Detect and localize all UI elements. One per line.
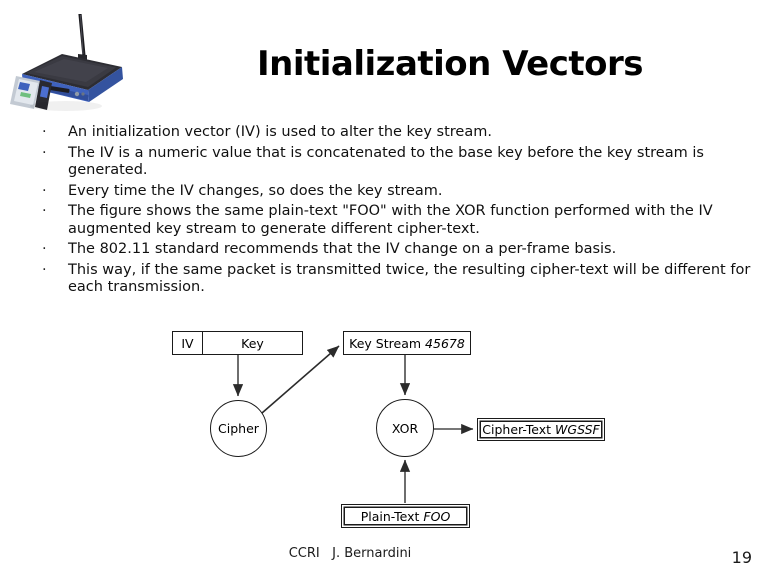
plain-text-value: FOO (419, 509, 450, 524)
list-item-text: The 802.11 standard recommends that the … (68, 241, 764, 259)
plain-text-box: Plain-Text FOO (341, 504, 470, 528)
key-cell-label: Key (203, 336, 302, 351)
key-stream-label: Key Stream (349, 336, 421, 351)
bullet-dot-icon: · (42, 262, 47, 280)
list-item: · This way, if the same packet is transm… (34, 262, 764, 297)
xor-node: XOR (376, 399, 434, 457)
bullet-dot-icon: · (42, 124, 47, 142)
iv-cell-label: IV (173, 332, 203, 354)
list-item: · An initialization vector (IV) is used … (34, 124, 764, 142)
list-item-text: The figure shows the same plain-text "FO… (68, 203, 764, 238)
cipher-node: Cipher (210, 400, 267, 457)
cipher-flow-diagram: IV Key Key Stream 45678 Cipher XOR Ciphe… (0, 318, 780, 543)
cipher-text-box: Cipher-Text WGSSF (477, 418, 605, 441)
bullet-dot-icon: · (42, 183, 47, 201)
plain-text-label: Plain-Text (361, 509, 420, 524)
wireless-router-icon (4, 14, 134, 116)
list-item: · The 802.11 standard recommends that th… (34, 241, 764, 259)
iv-key-box: IV Key (172, 331, 303, 355)
list-item: · The figure shows the same plain-text "… (34, 203, 764, 238)
xor-label: XOR (392, 421, 418, 436)
page-number: 19 (732, 548, 752, 567)
list-item-text: An initialization vector (IV) is used to… (68, 124, 764, 142)
list-item: · The IV is a numeric value that is conc… (34, 145, 764, 180)
cipher-text-label: Cipher-Text (482, 422, 551, 437)
bullet-dot-icon: · (42, 241, 47, 259)
cipher-label: Cipher (218, 421, 259, 436)
footer-credit: CCRI J. Bernardini (0, 546, 700, 561)
list-item-text: The IV is a numeric value that is concat… (68, 145, 764, 180)
cipher-text-value: WGSSF (551, 422, 600, 437)
router-svg (4, 14, 134, 116)
bullet-dot-icon: · (42, 145, 47, 163)
slide-canvas: Initialization Vectors · An initializati… (0, 0, 780, 585)
key-stream-box: Key Stream 45678 (343, 331, 471, 355)
bullet-dot-icon: · (42, 203, 47, 221)
list-item: · Every time the IV changes, so does the… (34, 183, 764, 201)
page-title: Initialization Vectors (150, 44, 750, 84)
bullet-list: · An initialization vector (IV) is used … (34, 124, 764, 300)
list-item-text: This way, if the same packet is transmit… (68, 262, 764, 297)
list-item-text: Every time the IV changes, so does the k… (68, 183, 764, 201)
key-stream-value: 45678 (421, 336, 465, 351)
